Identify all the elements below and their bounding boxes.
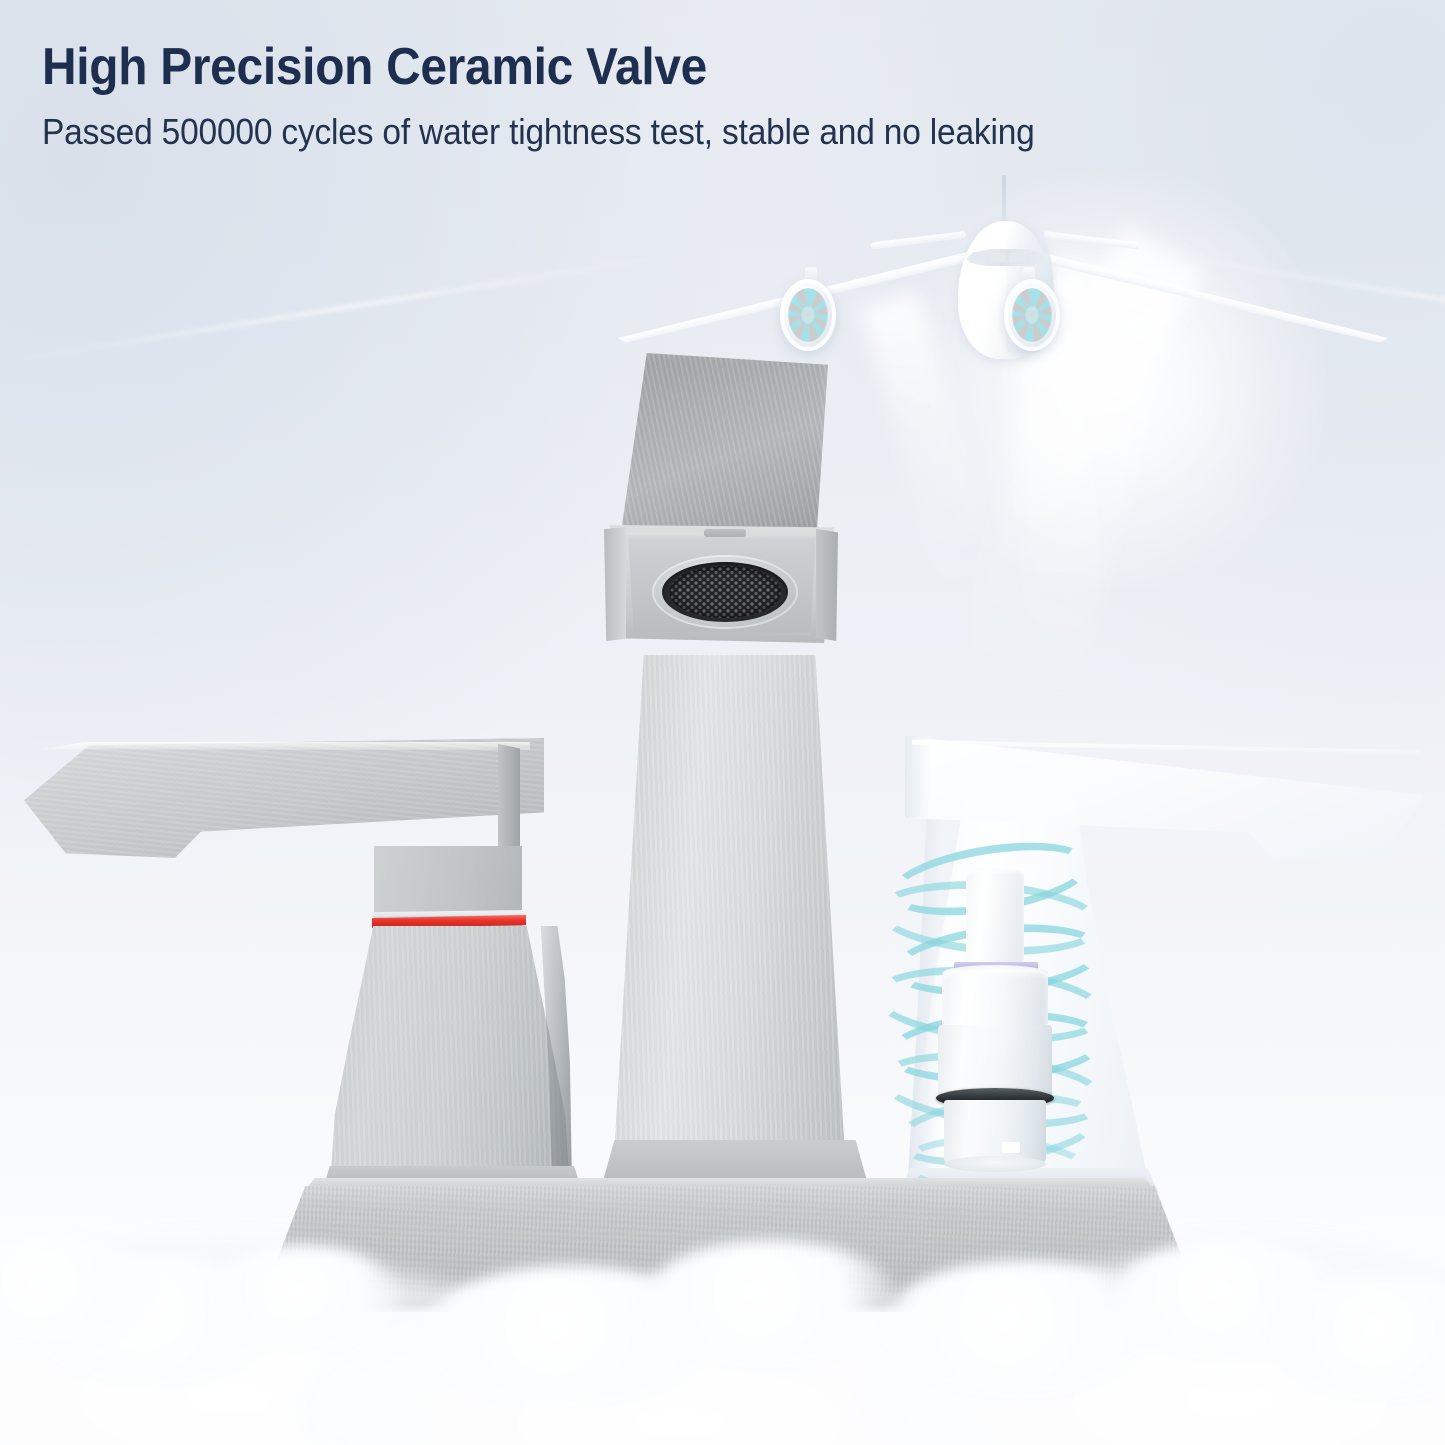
aerator-mesh-icon xyxy=(669,566,781,618)
spout-head-edge-left xyxy=(604,527,626,641)
header-block: High Precision Ceramic Valve Passed 5000… xyxy=(0,0,1445,153)
cloud-puff xyxy=(210,1245,400,1350)
cartridge-body-middle xyxy=(938,1025,1052,1097)
page-subtitle: Passed 500000 cycles of water tightness … xyxy=(42,110,1347,153)
cartridge-stem xyxy=(966,870,1024,962)
faucet-spout-column xyxy=(612,655,847,1190)
spout-head-edge-right xyxy=(816,529,838,641)
cloud-bank xyxy=(0,1115,1445,1445)
faucet-spout-head xyxy=(600,353,844,663)
cloud-puff xyxy=(640,1240,900,1365)
left-handle-edge xyxy=(498,744,520,858)
page-title: High Precision Ceramic Valve xyxy=(42,38,1333,96)
spout-head-notch xyxy=(704,529,746,537)
product-feature-banner: High Precision Ceramic Valve Passed 5000… xyxy=(0,0,1445,1445)
cartridge-body-upper xyxy=(942,970,1048,1028)
left-handle-lever xyxy=(24,738,544,858)
spout-head-top xyxy=(622,353,828,549)
brushed-texture xyxy=(24,738,544,858)
brushed-texture xyxy=(622,353,828,549)
brushed-texture xyxy=(612,655,847,1190)
